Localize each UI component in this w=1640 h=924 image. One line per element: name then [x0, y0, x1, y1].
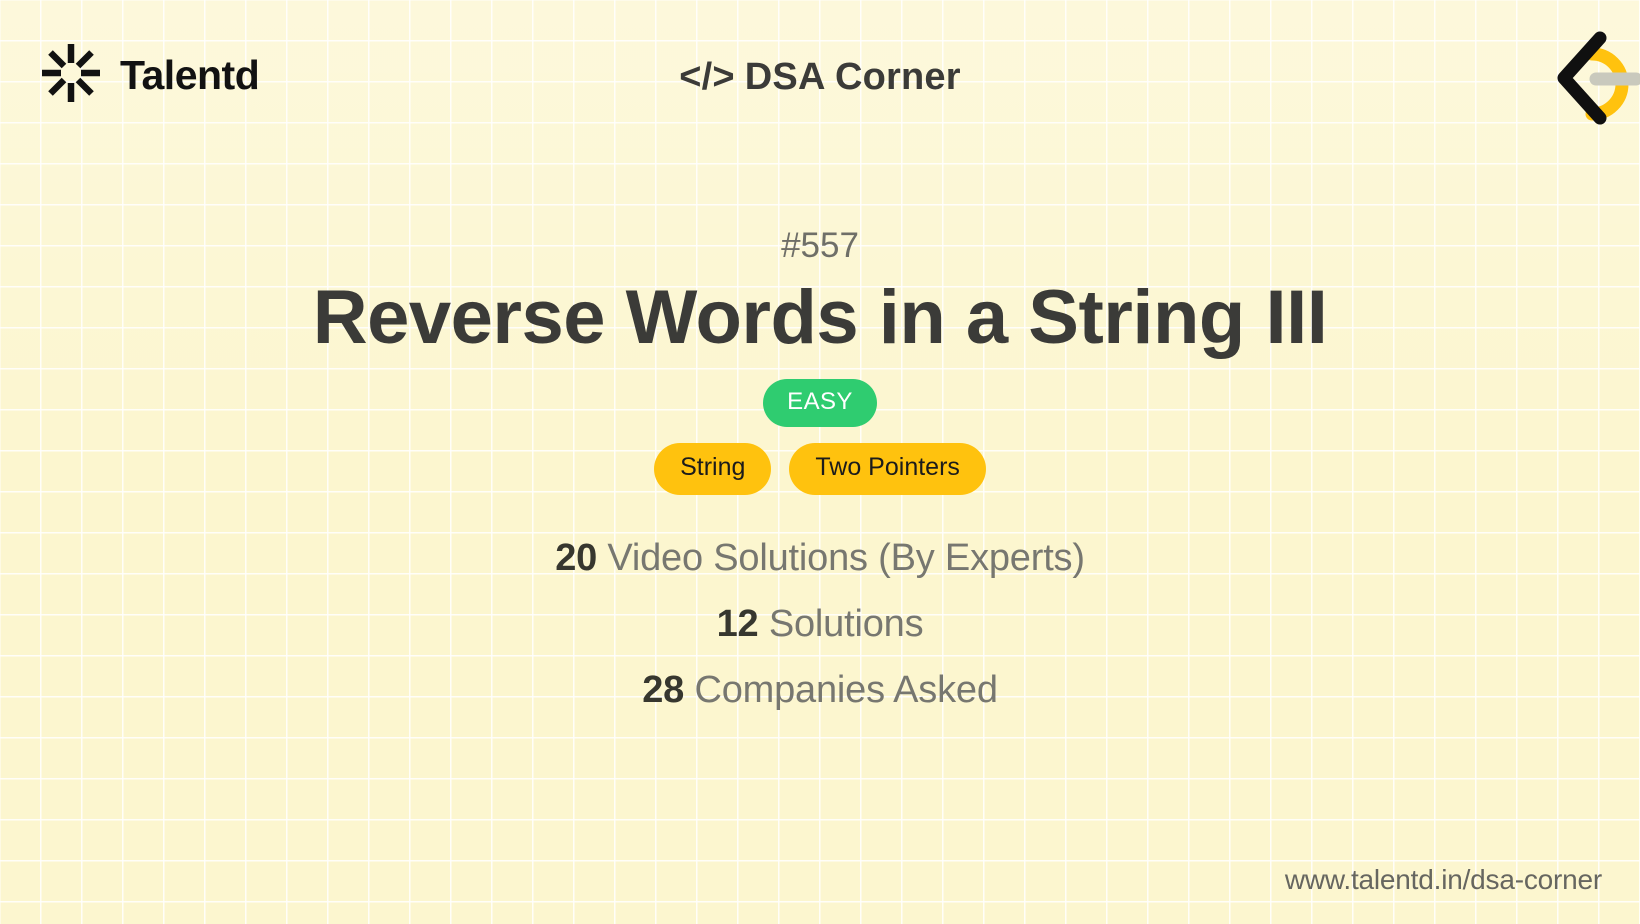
stat-value: 20	[555, 537, 597, 579]
tag-pill-string[interactable]: String	[654, 443, 771, 495]
stat-value: 28	[642, 669, 684, 711]
stat-solutions: 12 Solutions	[0, 605, 1640, 643]
problem-number: #557	[0, 228, 1640, 263]
problem-title: Reverse Words in a String III	[0, 277, 1640, 359]
code-brackets-icon: </>	[679, 56, 735, 98]
tag-pill-two-pointers[interactable]: Two Pointers	[789, 443, 986, 495]
stat-label: Companies Asked	[694, 669, 997, 711]
stat-label: Solutions	[769, 603, 924, 645]
footer-url[interactable]: www.talentd.in/dsa-corner	[1285, 864, 1602, 896]
problem-card: #557 Reverse Words in a String III EASY …	[0, 228, 1640, 709]
stat-video-solutions: 20 Video Solutions (By Experts)	[0, 539, 1640, 577]
stat-label: Video Solutions (By Experts)	[607, 537, 1084, 579]
stat-companies-asked: 28 Companies Asked	[0, 671, 1640, 709]
difficulty-badge: EASY	[763, 379, 877, 427]
page-title-text: DSA Corner	[745, 56, 961, 98]
chevron-c-mark-logo	[1528, 22, 1640, 137]
page-title: </>DSA Corner	[0, 56, 1640, 99]
stat-value: 12	[717, 603, 759, 645]
tags-row: String Two Pointers	[0, 443, 1640, 495]
difficulty-row: EASY	[0, 379, 1640, 427]
stats-list: 20 Video Solutions (By Experts) 12 Solut…	[0, 539, 1640, 709]
header: Talentd </>DSA Corner	[0, 0, 1640, 152]
